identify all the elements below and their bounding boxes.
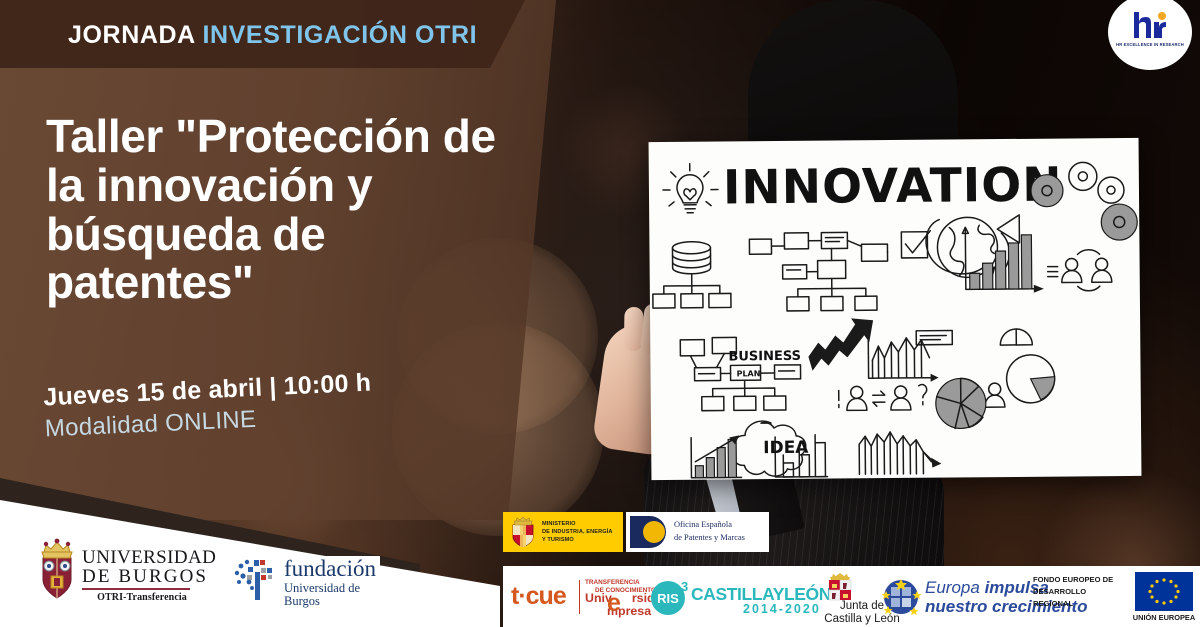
europa-word1: Europa <box>925 578 980 597</box>
ubu-tagline: OTRI-Transferencia <box>82 592 202 603</box>
database-diagram <box>652 241 731 308</box>
node-circle-diagram <box>677 408 697 422</box>
donut-chart-icon <box>1006 355 1054 403</box>
oepm-mark-icon <box>630 516 670 548</box>
header-title: JORNADA INVESTIGACIÓN OTRI <box>68 21 477 50</box>
feder-text: FONDO EUROPEO DE DESARROLLO REGIONAL <box>1033 574 1128 609</box>
footer-logo-band: t·cue TRANSFERENCIA DE CONOCIMIENTO Univ… <box>503 566 1200 627</box>
growth-arrow-icon <box>808 318 873 371</box>
arrow-icon <box>997 215 1019 243</box>
tcue-logo: t·cue TRANSFERENCIA DE CONOCIMIENTO Univ… <box>511 578 661 616</box>
feder-line3: REGIONAL <box>1033 598 1128 610</box>
europa-line1: Europa impulsa <box>925 578 1049 598</box>
whiteboard-business-label: BUSINESS <box>728 349 801 365</box>
spain-coat-of-arms-icon <box>509 517 537 547</box>
ris-superscript: 3 <box>681 579 688 594</box>
dense-line-chart-icon <box>859 432 941 475</box>
whiteboard-headline: INNOVATION <box>723 158 1063 216</box>
whiteboard: INNOVATION <box>649 138 1142 480</box>
ministerio-logo: MINISTERIO DE INDUSTRIA, ENERGÍA Y TURIS… <box>503 512 623 552</box>
ministerio-line3: Y TURISMO <box>542 536 612 544</box>
fundacion-tree-icon <box>234 558 280 600</box>
semicircle-chart-icon <box>1000 329 1032 345</box>
oepm-line1: Oficina Española <box>674 519 745 532</box>
fundacion-line2: Universidad de Burgos <box>284 582 380 607</box>
ris-acronym: RIS <box>651 581 685 615</box>
ubu-crest-icon <box>36 538 78 600</box>
header-prefix: JORNADA <box>68 21 195 49</box>
event-poster: INNOVATION <box>0 0 1200 627</box>
castilla-leon-shield-icon <box>827 572 853 602</box>
tcue-e-glyph: e <box>607 591 621 616</box>
page-title: Taller "Protección de la innovación y bú… <box>46 112 516 307</box>
ubu-name: UNIVERSIDAD DE BURGOS <box>82 548 216 587</box>
ministerio-line1: MINISTERIO <box>542 520 612 528</box>
idea-cloud: IDEA <box>733 421 810 477</box>
europa-stars-icon <box>881 579 921 615</box>
hr-caption: HR EXCELLENCE IN RESEARCH <box>1108 42 1192 47</box>
oepm-logo: Oficina Española de Patentes y Marcas <box>626 512 769 552</box>
eu-flag-icon <box>1135 572 1193 611</box>
rising-bar-chart-icon <box>691 435 741 477</box>
feder-line1: FONDO EUROPEO DE <box>1033 574 1128 586</box>
feder-line2: DESARROLLO <box>1033 586 1128 598</box>
eu-caption: UNIÓN EUROPEA <box>1129 613 1199 622</box>
fundacion-line1: fundación <box>284 557 376 580</box>
tcue-divider <box>579 580 580 614</box>
pie-chart-icon <box>936 378 986 428</box>
tcue-wordmark: t·cue <box>511 582 566 611</box>
ministerio-text: MINISTERIO DE INDUSTRIA, ENERGÍA Y TURIS… <box>542 520 612 544</box>
network-flowchart <box>749 232 888 311</box>
fundacion-logo: fundación Universidad de Burgos <box>232 556 380 602</box>
oepm-line2: de Patentes y Marcas <box>674 532 745 545</box>
people-exchange-icon <box>1047 250 1111 292</box>
whiteboard-plan-label: PLAN <box>737 369 761 378</box>
hr-logo-icon <box>1132 12 1168 38</box>
ubu-line2: DE BURGOS <box>82 567 216 586</box>
business-plan-diagram: BUSINESS PLAN <box>680 337 801 411</box>
bar-chart-icon <box>962 227 1044 294</box>
tcue-sub1a: TRANSFERENCIA <box>585 579 656 587</box>
oepm-text: Oficina Española de Patentes y Marcas <box>674 519 745 544</box>
header-highlight: INVESTIGACIÓN OTRI <box>202 21 477 49</box>
ubu-divider <box>82 588 190 590</box>
lightbulb-icon <box>663 164 718 213</box>
ubu-line1: UNIVERSIDAD <box>82 548 216 567</box>
ministerio-line2: DE INDUSTRIA, ENERGÍA <box>542 528 612 536</box>
